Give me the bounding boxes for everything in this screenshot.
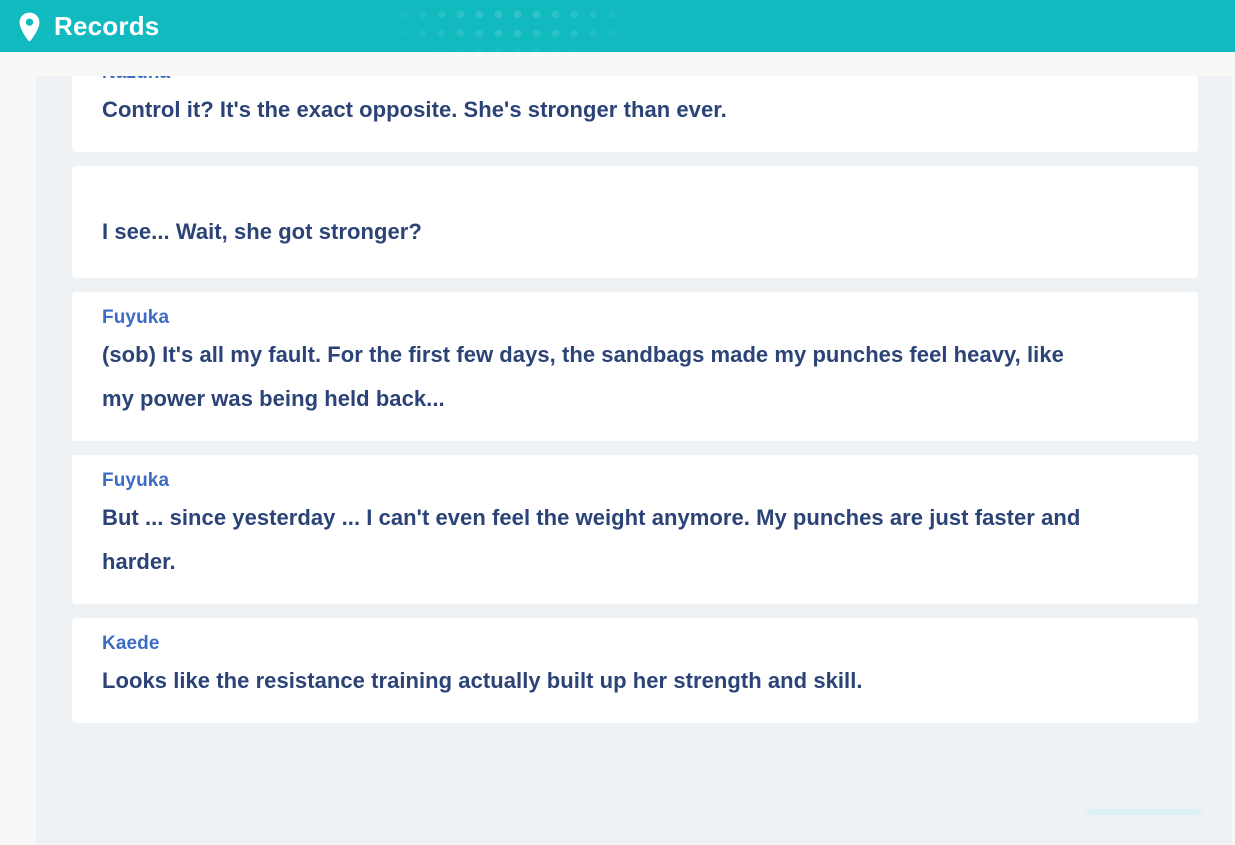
- speaker-name: Nazuna: [102, 76, 1168, 88]
- header-dot-pattern: [375, 0, 705, 52]
- list-item[interactable]: Nazuna Control it? It's the exact opposi…: [72, 76, 1198, 152]
- list-item[interactable]: Kaede Looks like the resistance training…: [72, 618, 1198, 723]
- list-item[interactable]: Fuyuka But ... since yesterday ... I can…: [72, 455, 1198, 604]
- speaker-name: Kaede: [102, 629, 1168, 659]
- message-text: Control it? It's the exact opposite. She…: [102, 88, 1168, 132]
- message-text: Looks like the resistance training actua…: [102, 659, 1087, 703]
- message-text: (sob) It's all my fault. For the first f…: [102, 333, 1087, 421]
- message-text: But ... since yesterday ... I can't even…: [102, 496, 1087, 584]
- app-header: Records: [0, 0, 1235, 52]
- list-item[interactable]: Fuyuka (sob) It's all my fault. For the …: [72, 292, 1198, 441]
- page-body: Nazuna Control it? It's the exact opposi…: [0, 52, 1235, 815]
- speaker-name: [102, 182, 1168, 210]
- records-panel: Nazuna Control it? It's the exact opposi…: [36, 76, 1232, 845]
- map-pin-icon: [18, 12, 41, 42]
- page-title: Records: [54, 13, 159, 39]
- floating-action-button-peek[interactable]: [1085, 809, 1203, 815]
- speaker-name: Fuyuka: [102, 303, 1168, 333]
- message-text: I see... Wait, she got stronger?: [102, 210, 1087, 254]
- list-item[interactable]: I see... Wait, she got stronger?: [72, 166, 1198, 278]
- records-list[interactable]: Nazuna Control it? It's the exact opposi…: [36, 76, 1232, 845]
- speaker-name: Fuyuka: [102, 466, 1168, 496]
